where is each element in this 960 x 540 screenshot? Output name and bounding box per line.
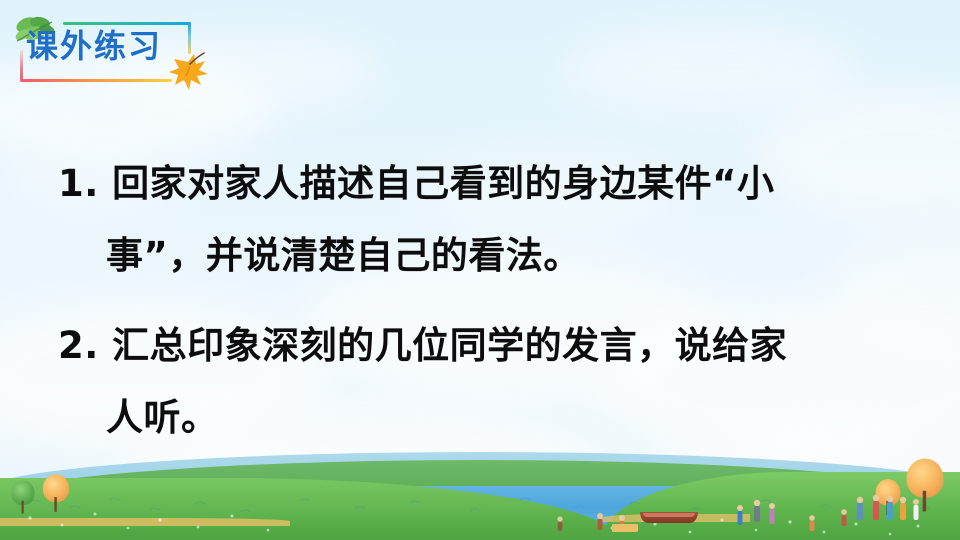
person (737, 505, 743, 525)
person (841, 509, 847, 526)
person (754, 500, 760, 522)
page-title: 课外练习 (26, 26, 162, 66)
person (597, 513, 603, 530)
person (769, 503, 775, 524)
title-badge: 课外练习 (8, 6, 223, 88)
exercise-item-2-line-1: 2. 汇总印象深刻的几位同学的发言，说给家 (58, 310, 928, 382)
person (857, 497, 863, 520)
picnic-mat (612, 524, 638, 532)
title-rule-top (63, 22, 191, 25)
title-tick-top-right (188, 23, 191, 54)
landscape-illustration (0, 430, 960, 540)
exercise-item-1-line-1: 1. 回家对家人描述自己看到的身边某件“小 (58, 148, 928, 220)
person (809, 515, 815, 531)
maple-leaf-icon (168, 52, 210, 92)
people-group (0, 430, 960, 540)
slide-canvas: 课外练习 1. 回家对家人描述自己看到的身边某件“小 事”，并说清楚自己的看法。… (0, 0, 960, 540)
cloud-shape (560, 20, 860, 115)
title-rule-bottom (20, 79, 172, 82)
title-tick-bottom-left (20, 50, 23, 81)
person (557, 516, 562, 531)
person (887, 496, 893, 520)
person (913, 499, 919, 520)
exercise-list: 1. 回家对家人描述自己看到的身边某件“小 事”，并说清楚自己的看法。 2. 汇… (58, 148, 928, 454)
person (900, 497, 906, 520)
exercise-item-1-line-2: 事”，并说清楚自己的看法。 (58, 220, 928, 292)
person (873, 495, 879, 520)
